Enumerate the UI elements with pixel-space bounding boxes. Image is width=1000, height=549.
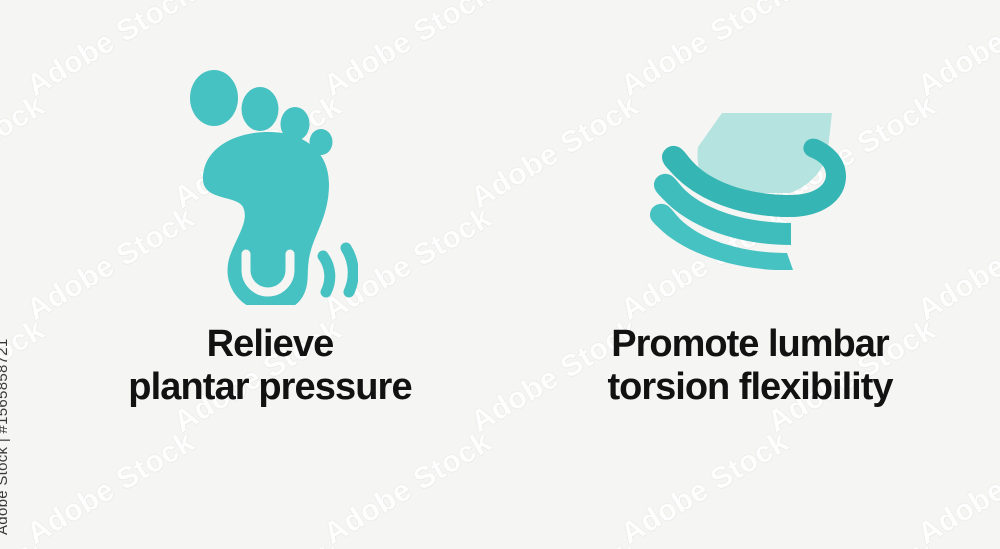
lumbar-spine-icon xyxy=(650,105,850,270)
feature-relieve-plantar-pressure: Relieve plantar pressure xyxy=(40,60,500,460)
footprint-icon-box xyxy=(183,60,358,315)
feature-caption-left: Relieve plantar pressure xyxy=(128,323,411,408)
content-area: Relieve plantar pressure Promote lumbar … xyxy=(0,0,1000,549)
footprint-icon xyxy=(183,70,358,305)
poster-canvas: Adobe StockAdobe StockAdobe StockAdobe S… xyxy=(0,0,1000,549)
motion-arcs xyxy=(323,248,353,292)
feature-caption-right: Promote lumbar torsion flexibility xyxy=(607,323,892,408)
lumbar-spine-icon-box xyxy=(650,60,850,315)
feature-promote-lumbar-torsion-flexibility: Promote lumbar torsion flexibility xyxy=(520,60,980,460)
